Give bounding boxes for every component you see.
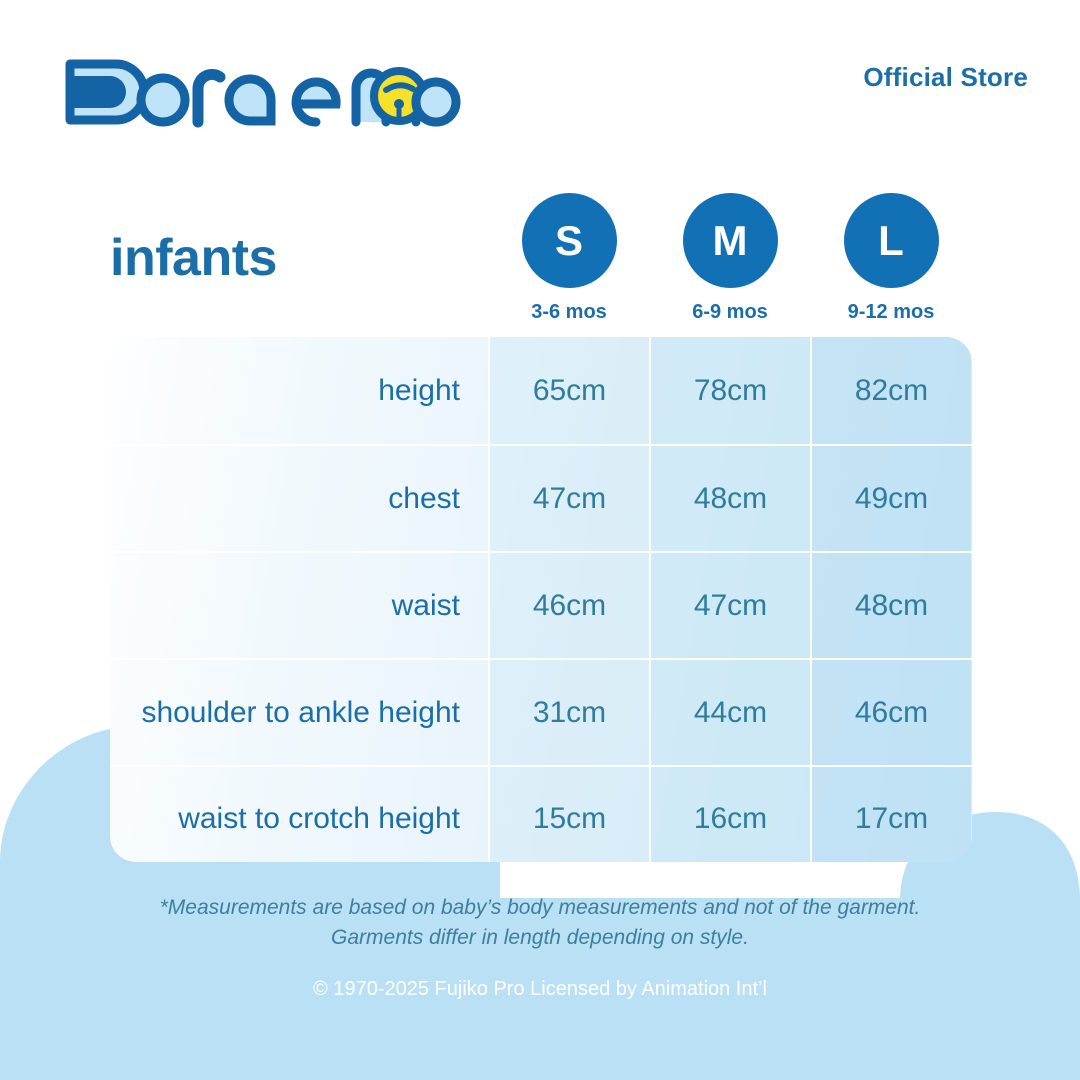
- table-row: waist to crotch height 15cm 16cm 17cm: [110, 765, 972, 862]
- size-header-row: infants S 3-6 mos M 6-9 mos L 9-12 mos: [0, 0, 1080, 330]
- cell-value: 31cm: [488, 660, 649, 765]
- cell-value: 46cm: [488, 553, 649, 658]
- cell-value: 48cm: [810, 553, 971, 658]
- cell-value: 49cm: [810, 446, 971, 551]
- cell-value: 48cm: [649, 446, 810, 551]
- cell-value: 15cm: [488, 767, 649, 862]
- footnote-line-1: *Measurements are based on baby’s body m…: [0, 893, 1080, 923]
- table-row: height 65cm 78cm 82cm: [110, 337, 972, 444]
- cell-value: 78cm: [649, 337, 810, 444]
- cell-value: 47cm: [488, 446, 649, 551]
- size-age-s: 3-6 mos: [488, 301, 650, 324]
- table-row: waist 46cm 47cm 48cm: [110, 551, 972, 658]
- cell-value: 47cm: [649, 553, 810, 658]
- size-column-l: L 9-12 mos: [810, 193, 972, 324]
- cell-value: 65cm: [488, 337, 649, 444]
- size-badge-l: L: [844, 193, 939, 288]
- row-label: chest: [110, 446, 488, 551]
- cell-value: 44cm: [649, 660, 810, 765]
- size-column-m: M 6-9 mos: [649, 193, 811, 324]
- row-label: shoulder to ankle height: [110, 660, 488, 765]
- row-label: waist: [110, 553, 488, 658]
- size-chart-table: height 65cm 78cm 82cm chest 47cm 48cm 49…: [110, 337, 972, 862]
- table-row: chest 47cm 48cm 49cm: [110, 444, 972, 551]
- row-label: waist to crotch height: [110, 767, 488, 862]
- size-age-l: 9-12 mos: [810, 301, 972, 324]
- row-label: height: [110, 337, 488, 444]
- size-badge-m: M: [683, 193, 778, 288]
- table-row: shoulder to ankle height 31cm 44cm 46cm: [110, 658, 972, 765]
- size-badge-s: S: [522, 193, 617, 288]
- copyright-notice: © 1970-2025 Fujiko Pro Licensed by Anima…: [0, 978, 1080, 1001]
- measurement-footnote: *Measurements are based on baby’s body m…: [0, 893, 1080, 954]
- size-age-m: 6-9 mos: [649, 301, 811, 324]
- cell-value: 82cm: [810, 337, 971, 444]
- cell-value: 17cm: [810, 767, 971, 862]
- cell-value: 16cm: [649, 767, 810, 862]
- page-title: infants: [110, 228, 277, 288]
- footnote-line-2: Garments differ in length depending on s…: [0, 923, 1080, 953]
- size-column-s: S 3-6 mos: [488, 193, 650, 324]
- cell-value: 46cm: [810, 660, 971, 765]
